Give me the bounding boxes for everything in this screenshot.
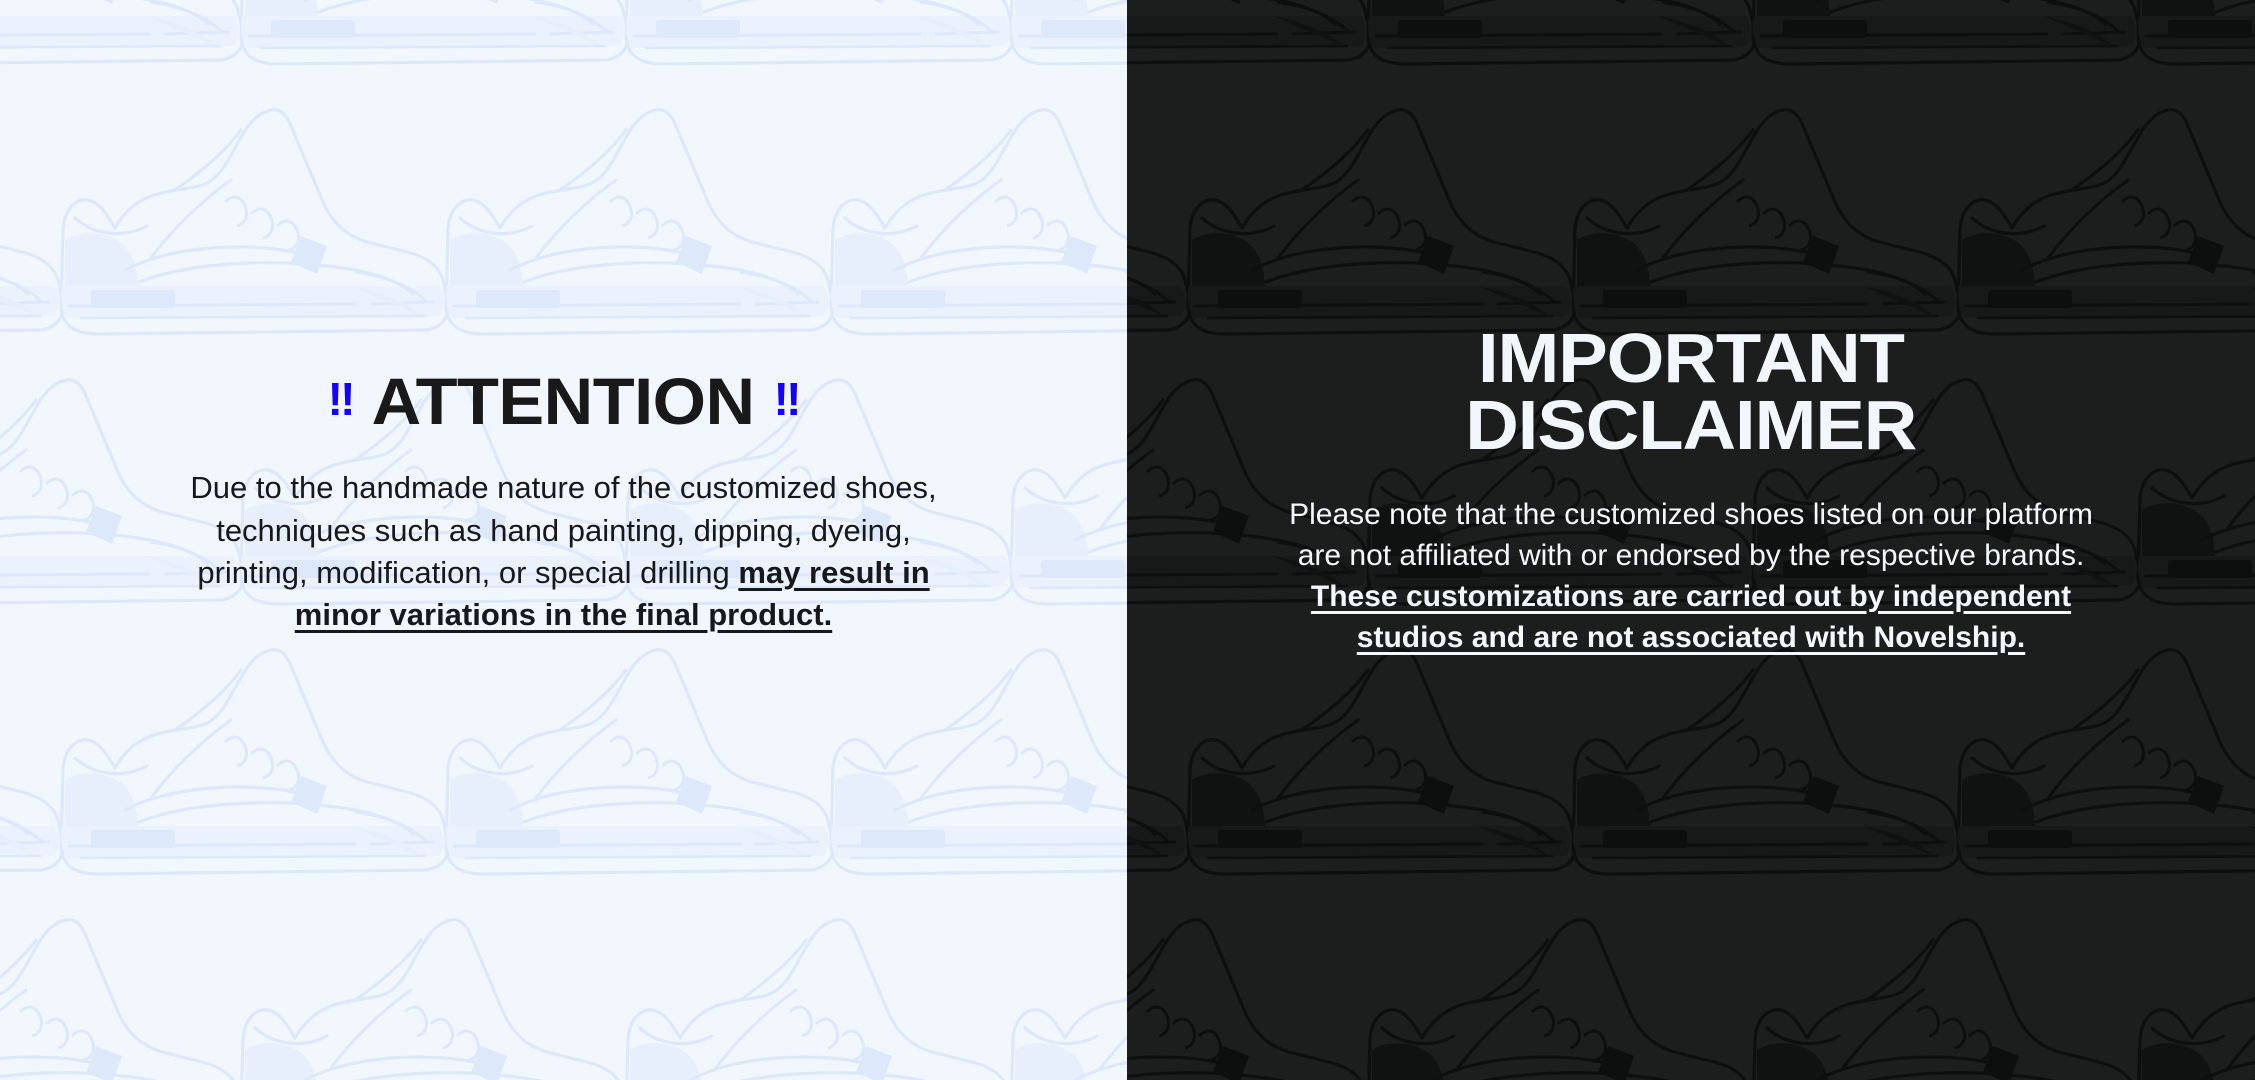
attention-heading-text: ATTENTION [372,370,755,433]
disclaimer-panel: IMPORTANT DISCLAIMER Please note that th… [1127,0,2255,1080]
disclaimer-heading: IMPORTANT [1490,325,1892,392]
disclaimer-body: Please note that the customized shoes li… [1281,495,2101,658]
attention-heading: ‼ ATTENTION ‼ [328,370,800,433]
disclaimer-body-emphasis: These customizations are carried out by … [1311,580,2071,654]
disclaimer-banner: ‼ ATTENTION ‼ Due to the handmade nature… [0,0,2255,1080]
disclaimer-body-normal: Please note that the customized shoes li… [1289,498,2093,572]
disclaimer-content: IMPORTANT DISCLAIMER Please note that th… [1127,0,2255,659]
disclaimer-heading-line1: IMPORTANT [1478,325,1904,392]
disclaimer-heading-second-line: DISCLAIMER [1478,392,1904,459]
double-exclamation-left-icon: ‼ [328,376,354,422]
attention-content: ‼ ATTENTION ‼ Due to the handmade nature… [0,0,1127,636]
disclaimer-heading-line2: DISCLAIMER [1465,392,1916,459]
attention-body: Due to the handmade nature of the custom… [164,467,964,636]
double-exclamation-right-icon: ‼ [774,376,800,422]
attention-panel: ‼ ATTENTION ‼ Due to the handmade nature… [0,0,1127,1080]
